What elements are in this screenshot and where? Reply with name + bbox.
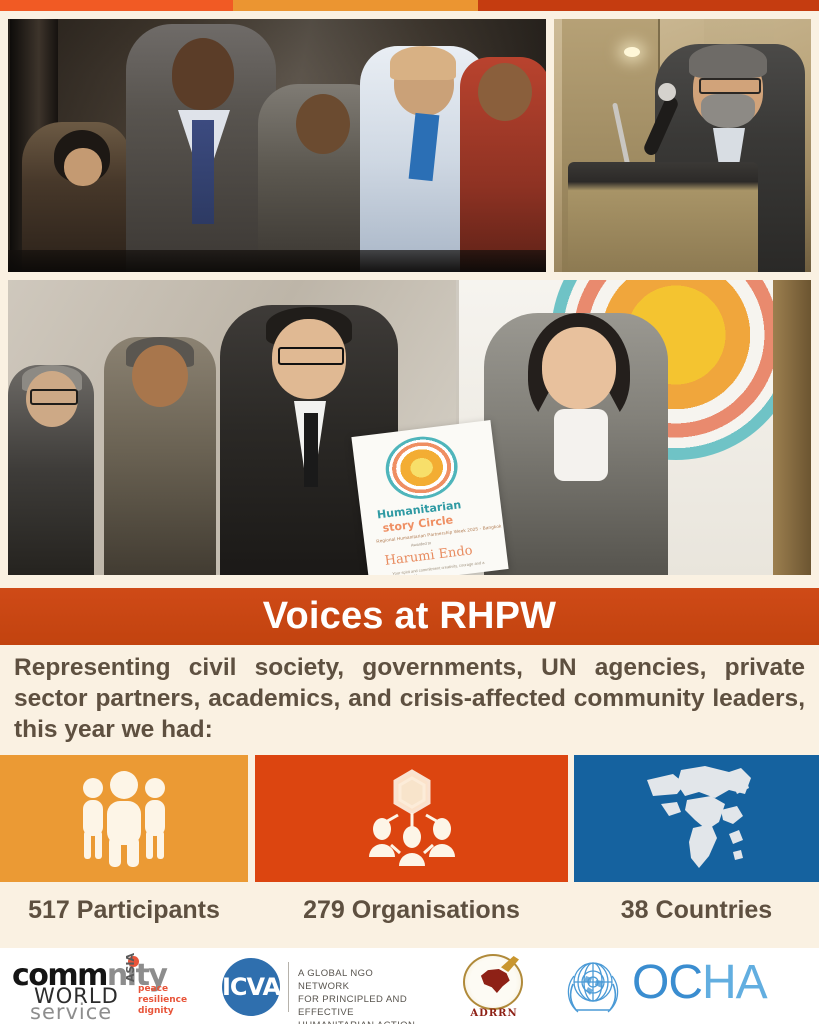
stat-countries-icon-box — [574, 755, 819, 882]
icva-divider — [288, 962, 289, 1012]
icva-tagline-line-3: HUMANITARIAN ACTION — [298, 1019, 418, 1024]
icva-wordmark: ICVA — [222, 973, 280, 1001]
strip-segment-orange-red — [0, 0, 233, 11]
world-map-icon — [633, 764, 761, 874]
footer-logo-bar: commnity WORLD service ASIA peace resili… — [0, 948, 819, 1024]
strip-segment-amber — [233, 0, 478, 11]
intro-paragraph: Representing civil society, governments,… — [14, 652, 805, 745]
photo-award-handover: arian rcle Humanitarian story Circle — [8, 280, 811, 575]
people-group-icon — [69, 771, 179, 867]
logo-icva: ICVA A GLOBAL NGO NETWORK FOR PRINCIPLED… — [222, 958, 418, 1016]
top-color-strip — [0, 0, 819, 11]
cws-value-peace: peace — [138, 984, 187, 995]
stat-organisations-icon-box — [255, 755, 568, 882]
cws-value-resilience: resilience — [138, 995, 187, 1006]
icva-tagline-line-1: A GLOBAL NGO NETWORK — [298, 967, 418, 993]
cws-wordmark-line-3: service — [30, 1000, 112, 1024]
logo-community-world-service-asia: commnity WORLD service ASIA peace resili… — [8, 956, 186, 1018]
photo-collage: arian rcle Humanitarian story Circle — [8, 19, 811, 575]
logo-un-ocha: OCHA — [562, 954, 814, 1020]
certificate-awarded-label: Awarded to — [411, 540, 432, 547]
cws-values-text: peace resilience dignity — [138, 984, 187, 1017]
title-band: Voices at RHPW — [0, 588, 819, 645]
strip-segment-deep-orange — [478, 0, 819, 11]
certificate-logo-icon — [382, 433, 461, 503]
photo-delegates-registration — [8, 19, 546, 272]
icva-badge-icon: ICVA — [222, 958, 280, 1016]
page-title: Voices at RHPW — [263, 595, 557, 638]
statistics-row: 517 Participants — [0, 755, 819, 930]
stat-countries-label: 38 Countries — [574, 896, 819, 925]
award-certificate: Humanitarian story Circle Regional Human… — [351, 420, 508, 575]
stat-participants: 517 Participants — [0, 755, 248, 925]
stat-countries: 38 Countries — [574, 755, 819, 925]
stat-organisations: 279 Organisations — [255, 755, 568, 925]
stat-organisations-label: 279 Organisations — [255, 896, 568, 925]
photo-speaker-podium — [554, 19, 811, 272]
ocha-wordmark-first: OC — [632, 956, 702, 1009]
adrrn-asia-map-icon — [479, 968, 511, 994]
ocha-wordmark: OCHA — [632, 955, 767, 1010]
organisation-network-icon — [351, 767, 473, 871]
poster-root: arian rcle Humanitarian story Circle — [0, 0, 819, 1024]
cws-value-dignity: dignity — [138, 1006, 187, 1017]
icva-tagline-line-2: FOR PRINCIPLED AND EFFECTIVE — [298, 993, 418, 1019]
un-emblem-icon — [562, 956, 624, 1016]
adrrn-wordmark: ADRRN — [455, 1008, 533, 1019]
ocha-wordmark-second: HA — [702, 956, 767, 1009]
icva-tagline: A GLOBAL NGO NETWORK FOR PRINCIPLED AND … — [298, 967, 418, 1024]
stat-participants-label: 517 Participants — [0, 896, 248, 925]
cws-region-label: ASIA — [124, 953, 137, 982]
logo-adrrn: ADRRN — [455, 954, 533, 1020]
stat-participants-icon-box — [0, 755, 248, 882]
